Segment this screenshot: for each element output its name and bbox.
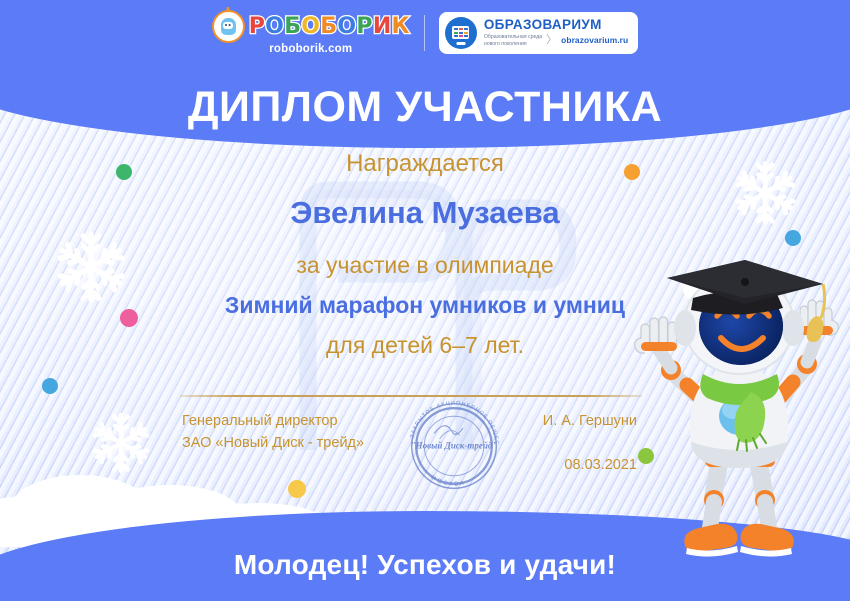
certificate-page: РОБОБОРИК roboborik.com ОБРАЗОВАРИУМ Обр… [0,0,850,601]
roboborik-letter-3: О [301,16,320,38]
recipient-name: Эвелина Музаева [0,195,850,232]
award-label: Награждается [0,150,850,178]
svg-text:ЗАКРЫТОЕ АКЦИОНЕРНОЕ ОБЩЕСТВО: ЗАКРЫТОЕ АКЦИОНЕРНОЕ ОБЩЕСТВО ОГРН 10277… [398,392,499,446]
footer-message: Молодец! Успехов и удачи! [0,549,850,581]
robot-face-icon [212,10,245,43]
obrazovarium-site: obrazovarium.ru [561,36,628,45]
signer-name: И. А. Гершуни [543,411,637,433]
signer-role-line1: Генеральный директор [182,411,364,433]
robot-mascot-graduate [627,246,842,558]
obrazovarium-logo[interactable]: ОБРАЗОВАРИУМ Образовательная среда новог… [439,12,638,54]
obrazovarium-subtitle: Образовательная среда нового поколения [484,34,542,48]
roboborik-letter-4: Б [320,16,337,38]
company-stamp: ЗАКРЫТОЕ АКЦИОНЕРНОЕ ОБЩЕСТВО ОГРН 10277… [398,392,510,500]
issue-date: 08.03.2021 [543,455,637,477]
stamp-city: МОСКВА [430,475,467,488]
stamp-inner-text: "Новый Диск-трейд" [411,441,498,451]
roboborik-letter-2: Б [284,16,301,38]
obrazovarium-title: ОБРАЗОВАРИУМ [484,18,628,32]
roboborik-letter-7: И [373,16,392,38]
roboborik-letter-5: О [337,16,356,38]
page-title: ДИПЛОМ УЧАСТНИКА [0,83,850,132]
roboborik-letter-0: Р [249,16,265,38]
signer-role: Генеральный директор ЗАО «Новый Диск - т… [182,411,364,455]
obrazovarium-separator: 〉 [546,35,557,47]
roboborik-wordmark: РОБОБОРИК [249,16,410,38]
signer-block: И. А. Гершуни 08.03.2021 [543,411,637,477]
roboborik-logo[interactable]: РОБОБОРИК roboborik.com [212,10,410,56]
stamp-outer-text: ЗАКРЫТОЕ АКЦИОНЕРНОЕ ОБЩЕСТВО ОГРН 10277… [398,392,499,446]
logo-bar: РОБОБОРИК roboborik.com ОБРАЗОВАРИУМ Обр… [0,10,850,56]
logo-divider [424,15,425,51]
roboborik-url: roboborik.com [269,44,352,56]
roboborik-letter-1: О [265,16,284,38]
signer-role-line2: ЗАО «Новый Диск - трейд» [182,433,364,455]
roboborik-letter-8: К [392,16,410,38]
svg-text:МОСКВА: МОСКВА [430,475,467,488]
monitor-icon [445,17,477,49]
roboborik-letter-6: Р [356,16,372,38]
confetti-dot-4 [42,378,58,394]
